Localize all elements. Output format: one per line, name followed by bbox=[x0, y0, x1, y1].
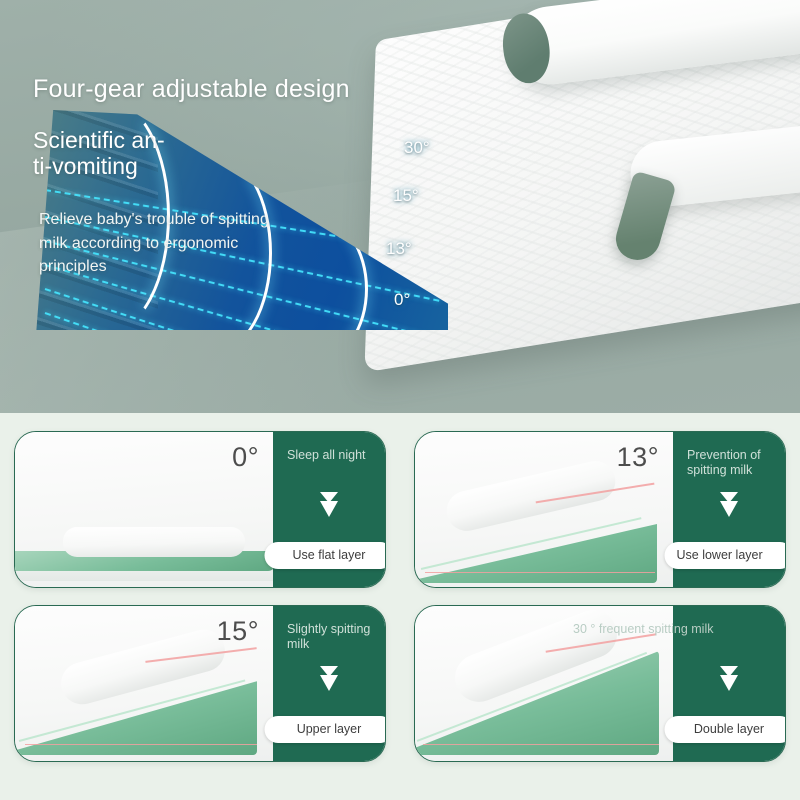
card-title: Prevention of spitting milk bbox=[687, 448, 775, 478]
card-panel-0deg: Sleep all night Use flat layer bbox=[273, 432, 385, 587]
white-pillow-roll bbox=[443, 457, 620, 535]
mode-card-30deg[interactable]: 30 ° frequent spitting milk Double layer bbox=[414, 605, 786, 762]
card-photo-15deg: 15° bbox=[15, 606, 273, 761]
double-chevron-down-icon bbox=[316, 490, 342, 520]
hero-description: Relieve baby's trouble of spitting milk … bbox=[39, 208, 299, 279]
angle-value: 0° bbox=[232, 442, 259, 473]
card-title: 30 ° frequent spitting milk bbox=[573, 622, 777, 637]
white-pillow-roll bbox=[63, 527, 245, 557]
angle-base-line bbox=[25, 744, 257, 746]
layer-pill[interactable]: Double layer bbox=[665, 716, 787, 743]
hero-title: Four-gear adjustable design bbox=[33, 75, 403, 104]
hero-subtitle-line2: ti-vomiting bbox=[33, 153, 138, 179]
mode-card-13deg[interactable]: 13° Prevention of spitting milk Use lowe… bbox=[414, 431, 786, 588]
double-chevron-down-icon bbox=[716, 490, 742, 520]
angle-value: 15° bbox=[217, 616, 259, 647]
angle-label-0: 0° bbox=[394, 290, 410, 310]
layer-pill[interactable]: Use lower layer bbox=[665, 542, 787, 569]
layer-pill[interactable]: Upper layer bbox=[265, 716, 387, 743]
layer-pill[interactable]: Use flat layer bbox=[265, 542, 387, 569]
card-title: Sleep all night bbox=[287, 448, 375, 463]
card-title: Slightly spitting milk bbox=[287, 622, 375, 652]
card-photo-13deg: 13° bbox=[415, 432, 673, 587]
card-panel-13deg: Prevention of spitting milk Use lower la… bbox=[673, 432, 785, 587]
mode-card-0deg[interactable]: 0° Sleep all night Use flat layer bbox=[14, 431, 386, 588]
angle-value: 13° bbox=[617, 442, 659, 473]
mode-card-15deg[interactable]: 15° Slightly spitting milk Upper layer bbox=[14, 605, 386, 762]
hero-subtitle: Scientific an- ti-vomiting bbox=[33, 127, 233, 179]
card-panel-15deg: Slightly spitting milk Upper layer bbox=[273, 606, 385, 761]
hero-section: 30° 15° 13° 0° Four-gear adjustable desi… bbox=[0, 0, 800, 413]
white-pillow-roll bbox=[56, 625, 229, 709]
hero-text-block: Four-gear adjustable design Scientific a… bbox=[33, 75, 403, 279]
angle-base-line bbox=[425, 572, 655, 574]
angle-base-line bbox=[423, 744, 659, 746]
mode-card-grid: 0° Sleep all night Use flat layer bbox=[0, 413, 800, 800]
angle-label-30: 30° bbox=[404, 138, 430, 158]
hero-subtitle-line1: Scientific an- bbox=[33, 127, 165, 153]
double-chevron-down-icon bbox=[716, 664, 742, 694]
card-panel-30deg: 30 ° frequent spitting milk Double layer bbox=[673, 606, 785, 761]
double-chevron-down-icon bbox=[316, 664, 342, 694]
card-photo-0deg: 0° bbox=[15, 432, 273, 587]
product-infographic: 30° 15° 13° 0° Four-gear adjustable desi… bbox=[0, 0, 800, 800]
